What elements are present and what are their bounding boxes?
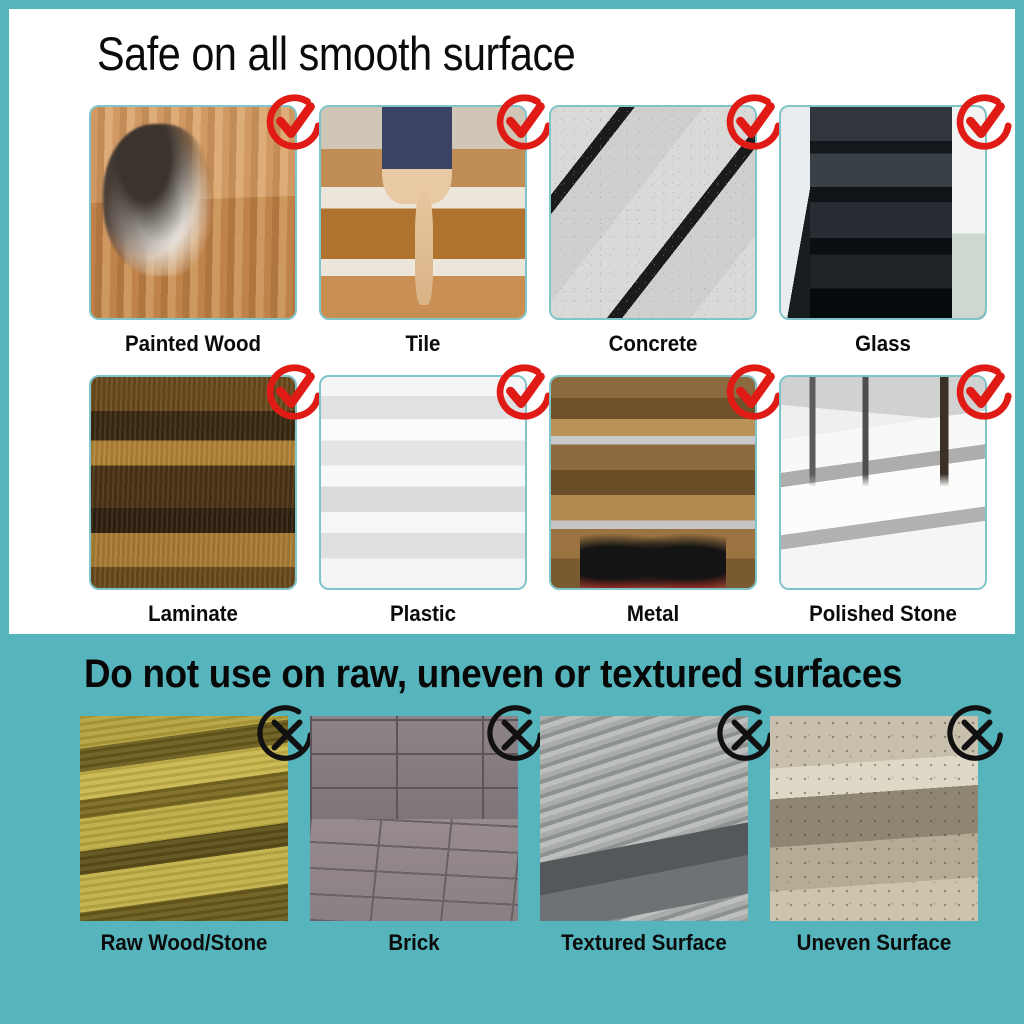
- bottom-heading: Do not use on raw, uneven or textured su…: [84, 652, 902, 697]
- surface-card-metal[interactable]: Metal: [549, 375, 757, 590]
- surface-photo-painted-wood: [89, 105, 297, 320]
- surface-photo-tile: [319, 105, 527, 320]
- surface-label: Glass: [760, 333, 1006, 355]
- surface-photo-plastic: [319, 375, 527, 590]
- surface-card-glass[interactable]: Glass: [779, 105, 987, 320]
- surface-label: Concrete: [530, 333, 776, 355]
- surface-label: Polished Stone: [760, 603, 1006, 625]
- surface-label: Painted Wood: [70, 333, 316, 355]
- surface-label: Raw Wood/Stone: [61, 932, 307, 954]
- surface-label: Uneven Surface: [751, 932, 997, 954]
- surface-photo-raw-wood-stone: [80, 716, 288, 921]
- page-title: Safe on all smooth surface: [97, 29, 575, 78]
- surface-label: Laminate: [70, 603, 316, 625]
- surface-label: Brick: [291, 932, 537, 954]
- surface-photo-brick: [310, 716, 518, 921]
- surface-card-brick[interactable]: Brick: [310, 716, 518, 921]
- surface-card-concrete[interactable]: Concrete: [549, 105, 757, 320]
- safe-surfaces-panel: Safe on all smooth surface Painted Wood: [9, 9, 1015, 634]
- surface-card-textured-surface[interactable]: Textured Surface: [540, 716, 748, 921]
- surface-label: Textured Surface: [521, 932, 767, 954]
- safe-surfaces-row-2: Laminate Plastic: [9, 375, 1015, 590]
- surface-card-uneven-surface[interactable]: Uneven Surface: [770, 716, 978, 921]
- surface-card-painted-wood[interactable]: Painted Wood: [89, 105, 297, 320]
- safe-surfaces-row-1: Painted Wood Tile: [9, 105, 1015, 320]
- surface-photo-laminate: [89, 375, 297, 590]
- unsafe-surfaces-row: Raw Wood/Stone Brick: [0, 716, 1024, 921]
- surface-photo-polished-stone: [779, 375, 987, 590]
- surface-photo-uneven-surface: [770, 716, 978, 921]
- surface-card-plastic[interactable]: Plastic: [319, 375, 527, 590]
- surface-photo-metal: [549, 375, 757, 590]
- surface-card-raw-wood-stone[interactable]: Raw Wood/Stone: [80, 716, 288, 921]
- surface-photo-glass: [779, 105, 987, 320]
- unsafe-surfaces-panel: Do not use on raw, uneven or textured su…: [0, 634, 1024, 1024]
- surface-card-laminate[interactable]: Laminate: [89, 375, 297, 590]
- surface-photo-concrete: [549, 105, 757, 320]
- surface-photo-textured-surface: [540, 716, 748, 921]
- surface-card-polished-stone[interactable]: Polished Stone: [779, 375, 987, 590]
- surface-card-tile[interactable]: Tile: [319, 105, 527, 320]
- surface-label: Metal: [530, 603, 776, 625]
- surface-label: Tile: [300, 333, 546, 355]
- surface-label: Plastic: [300, 603, 546, 625]
